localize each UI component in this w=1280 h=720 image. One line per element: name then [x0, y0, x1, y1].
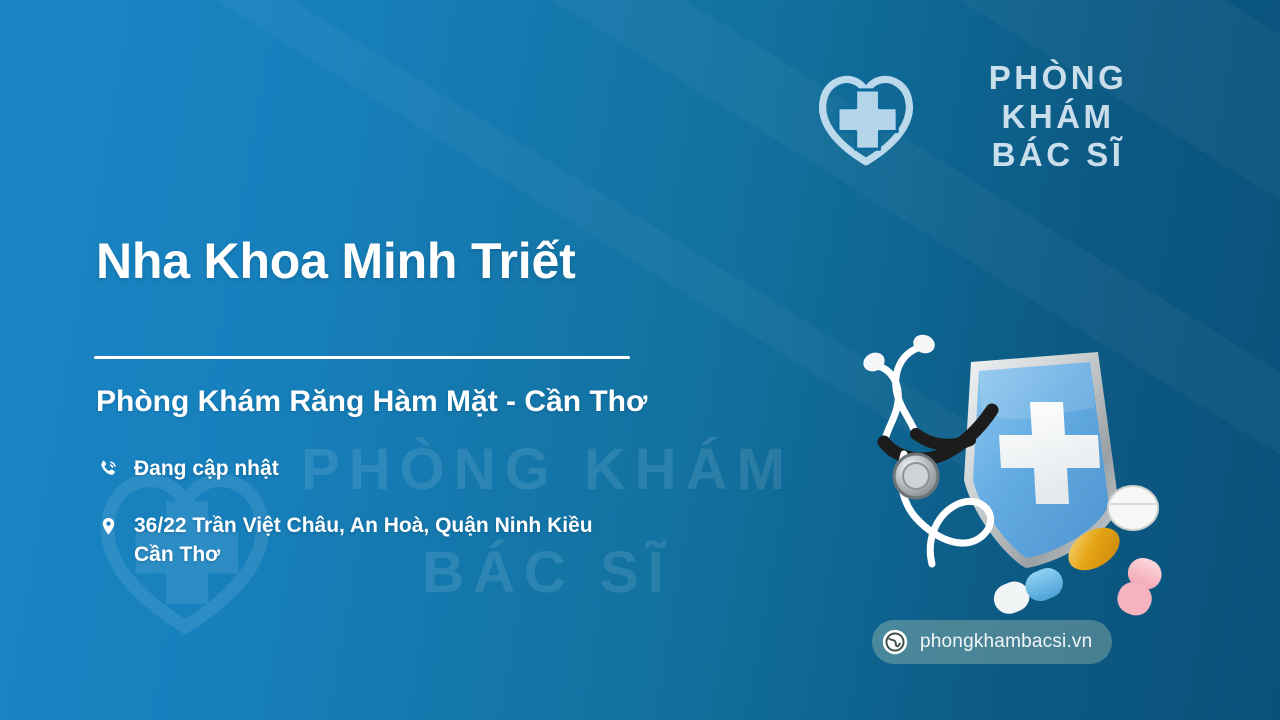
pink-capsule-icon: [1113, 553, 1166, 618]
divider: [94, 356, 630, 359]
medical-cross-heart-icon: [812, 65, 920, 169]
medical-illustration: [840, 318, 1180, 618]
contact-address-row[interactable]: 36/22 Trần Việt Châu, An Hoà, Quận Ninh …: [96, 512, 593, 569]
brand-logo-text: PHÒNG KHÁM BÁC SĨ: [934, 59, 1182, 176]
website-url-text: phongkhambacsi.vn: [920, 631, 1092, 653]
brand-logo-line-2: BÁC SĨ: [934, 136, 1182, 175]
address-text: 36/22 Trần Việt Châu, An Hoà, Quận Ninh …: [134, 512, 593, 569]
phone-text: Đang cập nhật: [134, 455, 279, 484]
contact-phone-row[interactable]: Đang cập nhật: [96, 455, 279, 484]
brand-logo: PHÒNG KHÁM BÁC SĨ: [812, 58, 1182, 176]
clinic-banner: PHÒNG KHÁM BÁC SĨ PHÒNG KHÁM BÁC SĨ Nha …: [0, 0, 1280, 720]
location-pin-icon: [96, 512, 120, 538]
brand-logo-line-1: PHÒNG KHÁM: [934, 59, 1182, 137]
clinic-name: Nha Khoa Minh Triết: [96, 232, 576, 290]
blue-white-capsule-icon: [989, 564, 1067, 618]
watermark-line-1: PHÒNG KHÁM: [275, 440, 820, 499]
white-round-tablet-icon: [1108, 486, 1158, 530]
globe-icon: [882, 629, 908, 655]
clinic-subtitle: Phòng Khám Răng Hàm Mặt - Cần Thơ: [96, 385, 647, 419]
phone-icon: [96, 455, 120, 481]
website-badge[interactable]: phongkhambacsi.vn: [872, 620, 1112, 664]
